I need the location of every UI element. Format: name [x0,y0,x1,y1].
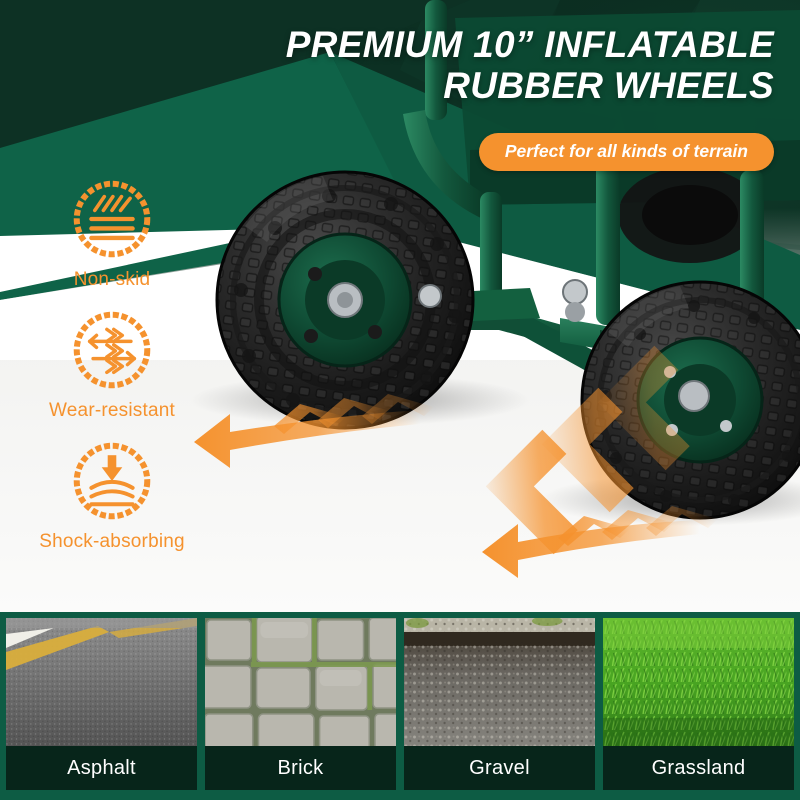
terrain-label: Grassland [603,746,794,790]
headline-line-2: RUBBER WHEELS [214,65,774,106]
feature-wear-resistant: Wear-resistant [14,307,210,422]
asphalt-surface-photo [6,618,197,746]
wear-resistant-icon [69,307,155,393]
terrain-card-asphalt: Asphalt [6,618,197,790]
shock-absorbing-icon [69,438,155,524]
feature-non-skid: Non-skid [14,176,210,291]
feature-label: Wear-resistant [14,400,210,422]
terrain-label: Brick [205,746,396,790]
hero-section: PREMIUM 10” INFLATABLE RUBBER WHEELS Per… [0,0,800,612]
product-infographic: PREMIUM 10” INFLATABLE RUBBER WHEELS Per… [0,0,800,800]
terrain-card-gravel: Gravel [404,618,595,790]
terrain-card-grassland: Grassland [603,618,794,790]
terrain-label: Asphalt [6,746,197,790]
headline: PREMIUM 10” INFLATABLE RUBBER WHEELS [214,24,774,107]
terrain-strip: Asphalt [0,612,800,800]
feature-label: Non-skid [14,269,210,291]
brick-surface-photo [205,618,396,746]
gravel-surface-photo [404,618,595,746]
grassland-surface-photo [603,618,794,746]
terrain-card-brick: Brick [205,618,396,790]
non-skid-icon [69,176,155,262]
feature-list: Non-skid [14,176,210,569]
headline-line-1: PREMIUM 10” INFLATABLE [286,24,774,65]
tagline-badge: Perfect for all kinds of terrain [479,133,774,171]
terrain-label: Gravel [404,746,595,790]
feature-shock-absorbing: Shock-absorbing [14,438,210,553]
feature-label: Shock-absorbing [14,531,210,553]
